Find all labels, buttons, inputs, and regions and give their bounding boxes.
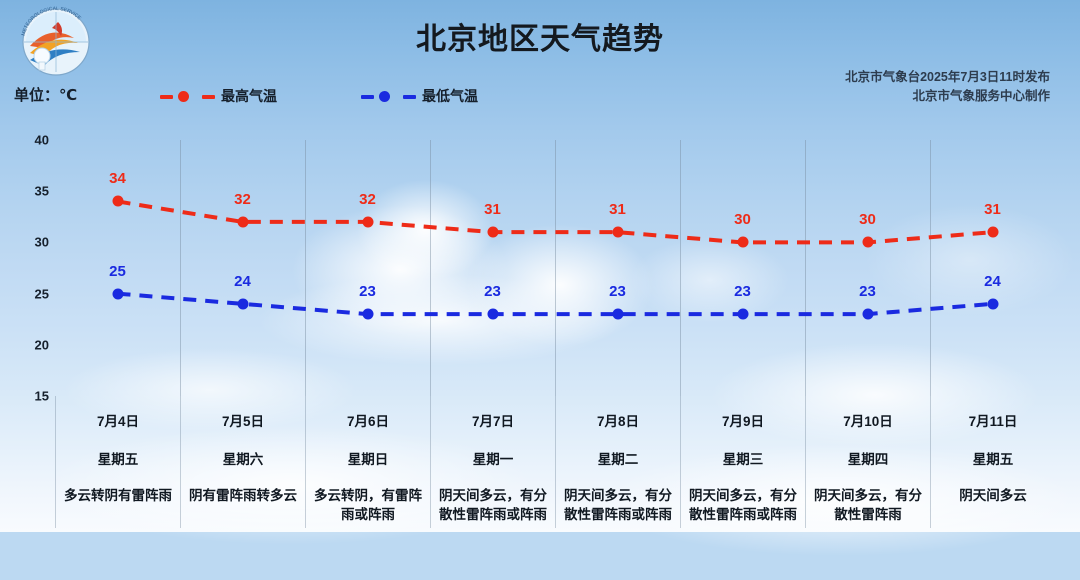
data-point-marker (737, 309, 748, 320)
data-point-marker (362, 309, 373, 320)
data-point-value-label: 30 (859, 211, 876, 228)
forecast-description: 多云转阴，有雷阵雨或阵雨 (310, 486, 426, 524)
data-point-marker (487, 227, 498, 238)
forecast-weekday: 星期二 (560, 448, 676, 468)
data-point-marker (612, 227, 623, 238)
data-point-value-label: 30 (734, 211, 751, 228)
legend-marker-min-temp-icon (361, 90, 417, 102)
data-point-marker (862, 237, 873, 248)
legend-label-max-temp: 最高气温 (221, 86, 277, 106)
data-point-marker (487, 309, 498, 320)
data-point-value-label: 31 (484, 201, 501, 218)
forecast-date: 7月7日 (435, 410, 551, 430)
forecast-description: 阴天间多云，有分散性雷阵雨 (810, 486, 926, 524)
data-point-marker (237, 298, 248, 309)
data-point-value-label: 32 (234, 191, 251, 208)
forecast-day-column[interactable]: 7月8日星期二阴天间多云，有分散性雷阵雨或阵雨 (555, 396, 680, 528)
y-axis-tick-label: 40 (35, 133, 49, 148)
data-point-value-label: 32 (359, 191, 376, 208)
legend-label-min-temp: 最低气温 (422, 86, 478, 106)
legend-item-max-temp: 最高气温 (160, 86, 277, 106)
data-point-marker (612, 309, 623, 320)
attribution-line-2: 北京市气象服务中心制作 (845, 87, 1050, 106)
y-axis-tick-label: 30 (35, 235, 49, 250)
data-point-marker (987, 298, 998, 309)
data-point-value-label: 23 (484, 283, 501, 300)
data-point-value-label: 31 (984, 201, 1001, 218)
temperature-chart: 403530252015 343232313130303125242323232… (55, 140, 1055, 396)
y-axis-tick-label: 35 (35, 184, 49, 199)
forecast-weekday: 星期五 (60, 448, 176, 468)
forecast-date: 7月8日 (560, 410, 676, 430)
data-point-value-label: 25 (109, 263, 126, 280)
legend-marker-max-temp-icon (160, 90, 216, 102)
data-point-value-label: 23 (359, 283, 376, 300)
y-axis-tick-label: 20 (35, 337, 49, 352)
page-title: 北京地区天气趋势 (0, 14, 1080, 58)
data-point-value-label: 24 (984, 273, 1001, 290)
data-point-value-label: 24 (234, 273, 251, 290)
forecast-day-columns: 7月4日星期五多云转阴有雷阵雨7月5日星期六阴有雷阵雨转多云7月6日星期日多云转… (55, 396, 1055, 528)
data-point-value-label: 23 (609, 283, 626, 300)
y-axis-tick-label: 25 (35, 286, 49, 301)
attribution: 北京市气象台2025年7月3日11时发布 北京市气象服务中心制作 (845, 68, 1050, 106)
forecast-day-column[interactable]: 7月11日星期五阴天间多云 (930, 396, 1055, 528)
legend-item-min-temp: 最低气温 (361, 86, 478, 106)
forecast-date: 7月9日 (685, 410, 801, 430)
forecast-date: 7月5日 (185, 410, 301, 430)
forecast-day-column[interactable]: 7月6日星期日多云转阴，有雷阵雨或阵雨 (305, 396, 430, 528)
forecast-description: 多云转阴有雷阵雨 (60, 486, 176, 505)
forecast-day-column[interactable]: 7月4日星期五多云转阴有雷阵雨 (55, 396, 180, 528)
data-point-value-label: 31 (609, 201, 626, 218)
data-point-marker (112, 288, 123, 299)
forecast-weekday: 星期五 (935, 448, 1051, 468)
forecast-date: 7月11日 (935, 410, 1051, 430)
forecast-day-column[interactable]: 7月7日星期一阴天间多云，有分散性雷阵雨或阵雨 (430, 396, 555, 528)
unit-label: 单位：℃ (14, 84, 77, 105)
data-point-marker (237, 216, 248, 227)
forecast-day-column[interactable]: 7月5日星期六阴有雷阵雨转多云 (180, 396, 305, 528)
forecast-date: 7月4日 (60, 410, 176, 430)
data-point-value-label: 23 (734, 283, 751, 300)
data-point-marker (112, 196, 123, 207)
forecast-description: 阴天间多云，有分散性雷阵雨或阵雨 (435, 486, 551, 524)
y-axis-tick-label: 15 (35, 389, 49, 404)
attribution-line-1: 北京市气象台2025年7月3日11时发布 (845, 68, 1050, 87)
temperature-series-lines (55, 140, 1055, 396)
forecast-weekday: 星期三 (685, 448, 801, 468)
data-point-marker (862, 309, 873, 320)
forecast-day-column[interactable]: 7月10日星期四阴天间多云，有分散性雷阵雨 (805, 396, 930, 528)
data-point-value-label: 34 (109, 170, 126, 187)
forecast-description: 阴有雷阵雨转多云 (185, 486, 301, 505)
data-point-marker (737, 237, 748, 248)
forecast-weekday: 星期四 (810, 448, 926, 468)
forecast-weekday: 星期六 (185, 448, 301, 468)
forecast-weekday: 星期一 (435, 448, 551, 468)
data-point-marker (362, 216, 373, 227)
forecast-description: 阴天间多云 (935, 486, 1051, 505)
forecast-weekday: 星期日 (310, 448, 426, 468)
forecast-description: 阴天间多云，有分散性雷阵雨或阵雨 (685, 486, 801, 524)
forecast-day-column[interactable]: 7月9日星期三阴天间多云，有分散性雷阵雨或阵雨 (680, 396, 805, 528)
data-point-marker (987, 227, 998, 238)
forecast-date: 7月6日 (310, 410, 426, 430)
forecast-description: 阴天间多云，有分散性雷阵雨或阵雨 (560, 486, 676, 524)
forecast-date: 7月10日 (810, 410, 926, 430)
chart-legend: 最高气温 最低气温 (160, 86, 478, 106)
data-point-value-label: 23 (859, 283, 876, 300)
